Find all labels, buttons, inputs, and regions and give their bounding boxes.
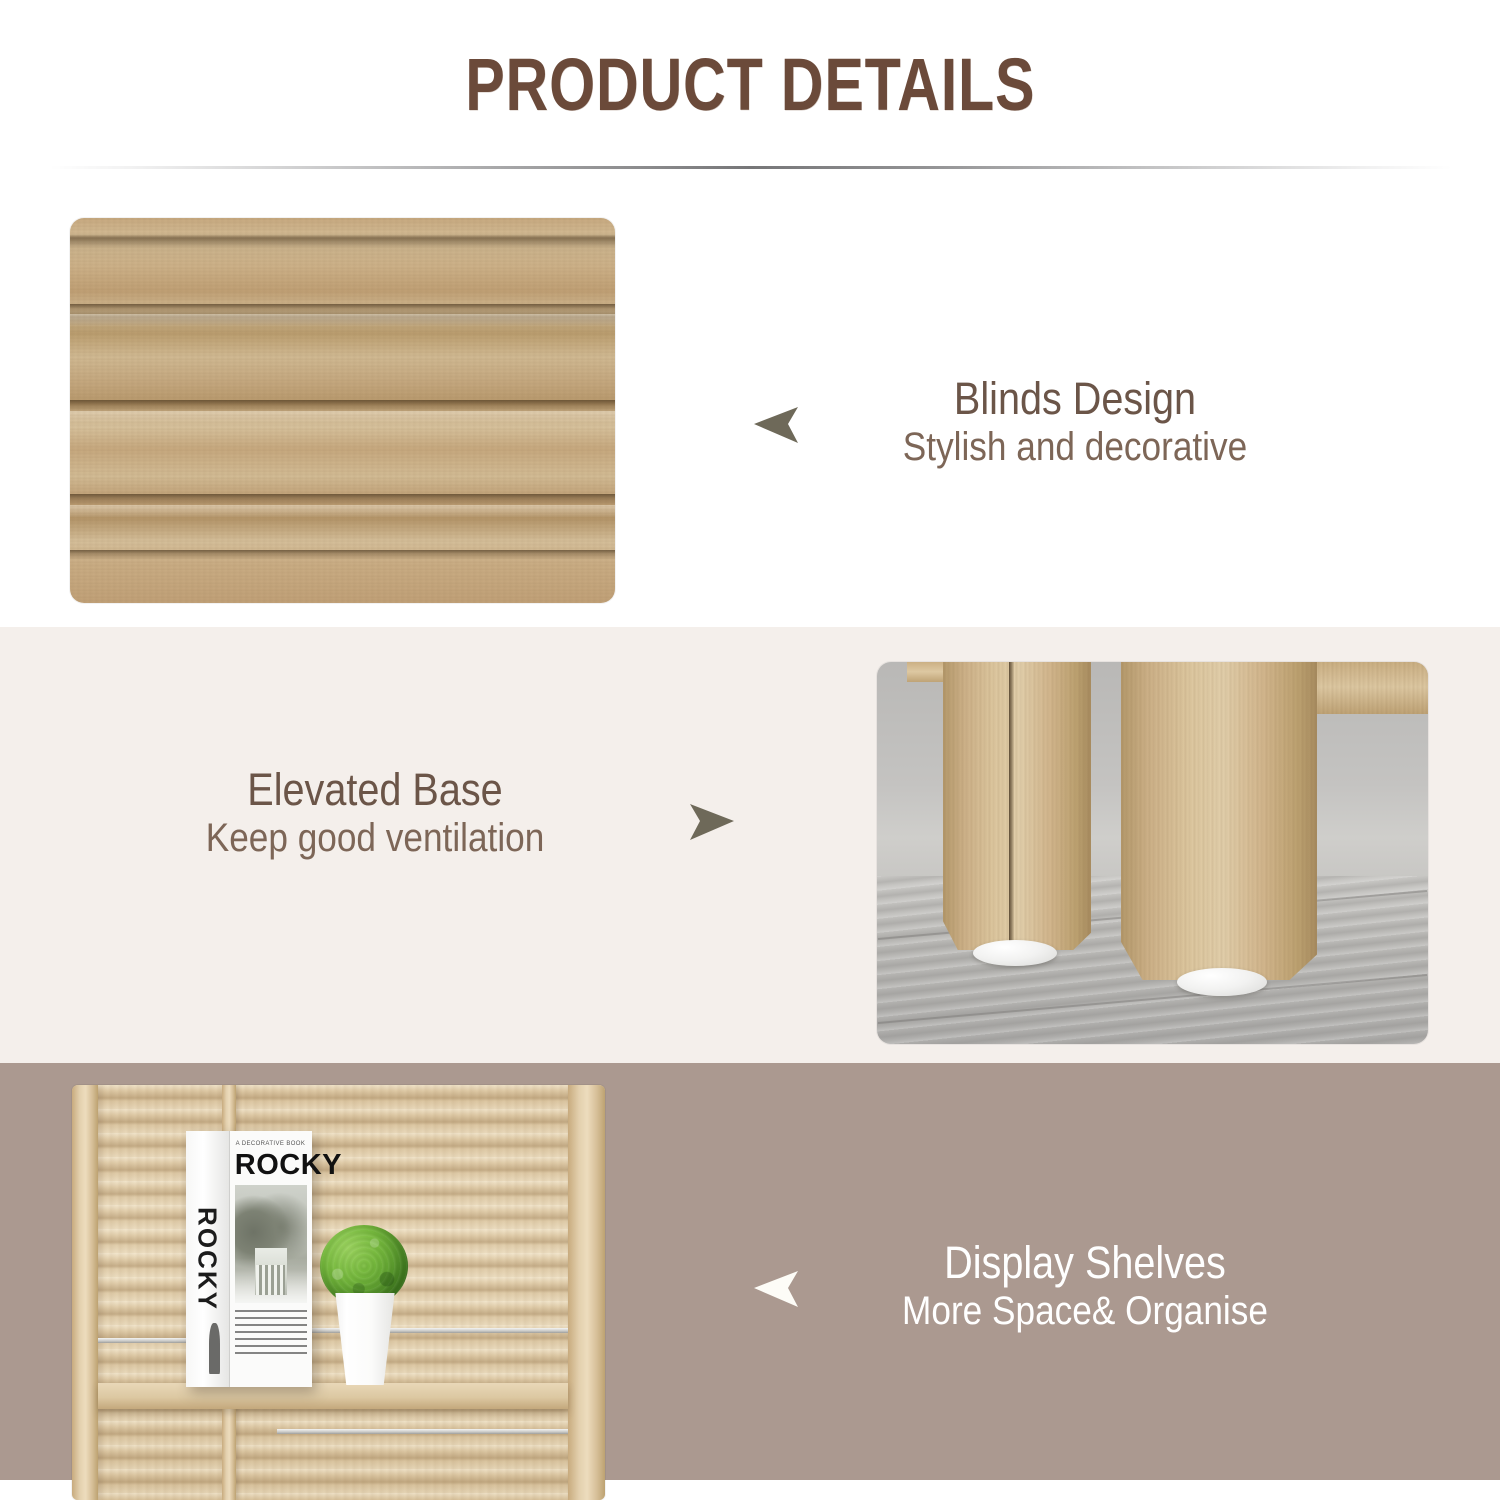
wood-grain-overlay (1121, 662, 1317, 980)
page-header: PRODUCT DETAILS (0, 0, 1500, 168)
header-divider (50, 166, 1452, 169)
wood-grain-overlay-horizontal (70, 218, 615, 603)
callout-subline: More Space& Organise (834, 1288, 1336, 1335)
book-kicker-text: A DECORATIVE BOOK (236, 1141, 306, 1147)
book-cover-title: ROCKY (235, 1149, 342, 1182)
shelf-frame-stile-left (72, 1085, 98, 1500)
leg-foot-pad-left (973, 940, 1057, 966)
cover-columns (256, 1265, 285, 1296)
wood-grain-overlay (943, 662, 1091, 950)
book-spine: ROCKY (186, 1131, 229, 1387)
callout-display-shelves: Display Shelves More Space& Organise (800, 1238, 1370, 1336)
book-cover-photo (235, 1185, 307, 1303)
callout-subline: Stylish and decorative (824, 424, 1326, 471)
louvered-wood-slat-closeup-photo (70, 218, 615, 603)
callout-elevated-base: Elevated Base Keep good ventilation (95, 765, 655, 863)
book-cover-text-lines (235, 1310, 307, 1356)
book-spine-title: ROCKY (192, 1207, 223, 1311)
shelf-board (98, 1383, 568, 1409)
leg-foot-pad-right (1177, 968, 1267, 996)
elevated-wooden-legs-photo (877, 662, 1428, 1044)
furniture-leg-left (943, 662, 1091, 950)
book-spine-figure (209, 1323, 220, 1374)
callout-subline: Keep good ventilation (129, 815, 622, 862)
furniture-leg-right (1121, 662, 1317, 980)
callout-headline: Blinds Design (824, 374, 1326, 424)
book-cover: A DECORATIVE BOOK ROCKY (229, 1131, 312, 1387)
shelf-frame-stile-right (568, 1085, 605, 1500)
decorative-book: ROCKY A DECORATIVE BOOK ROCKY (186, 1131, 312, 1387)
callout-blinds-design: Blinds Design Stylish and decorative (790, 374, 1360, 472)
page-title: PRODUCT DETAILS (465, 42, 1035, 127)
leg-edge-shadow (1009, 662, 1014, 950)
product-details-infographic: PRODUCT DETAILS Blinds Design Stylish an… (0, 0, 1500, 1500)
display-shelf-with-book-and-plant-photo: ROCKY A DECORATIVE BOOK ROCKY (72, 1085, 605, 1500)
callout-headline: Display Shelves (834, 1238, 1336, 1288)
callout-headline: Elevated Base (129, 765, 622, 815)
shelf-metal-rail (277, 1429, 568, 1434)
